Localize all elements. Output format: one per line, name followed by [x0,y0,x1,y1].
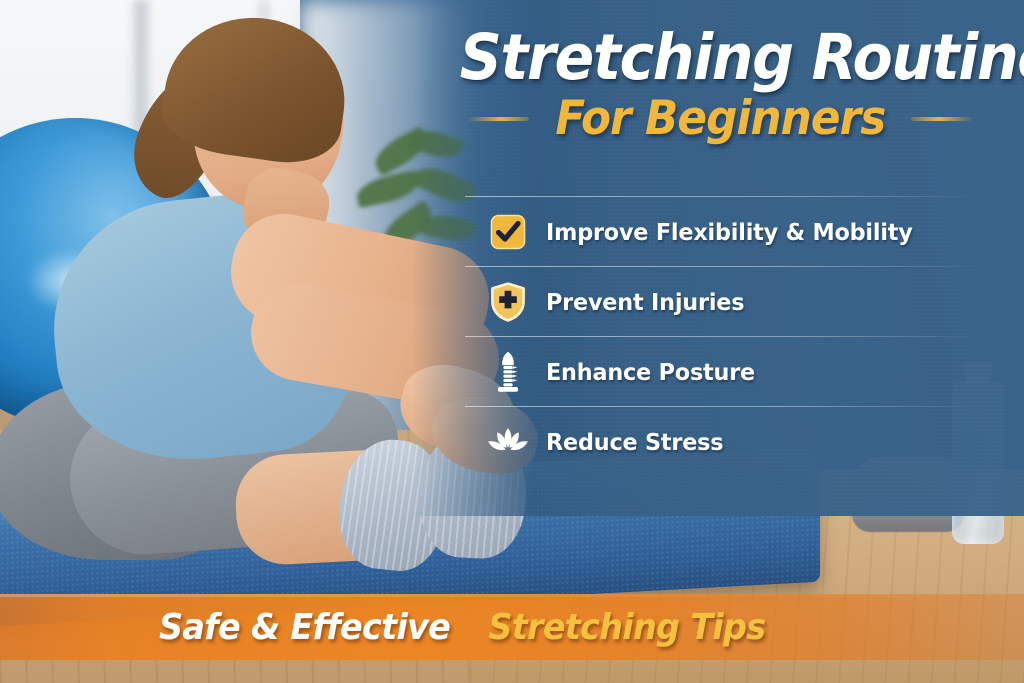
poster-canvas: Stretching Routine For Beginners Improve… [0,0,1024,683]
list-item-label: Improve Flexibility & Mobility [546,218,913,246]
dash-right-icon [911,117,973,121]
banner-text-accent: Stretching Tips [488,607,765,648]
list-item[interactable]: Reduce Stress [465,407,985,476]
benefits-list: Improve Flexibility & Mobility Prevent I… [465,196,985,476]
bottom-banner: Safe & Effective Stretching Tips [0,594,1024,660]
shield-cross-icon [487,280,529,324]
checkbox-check-icon [487,210,529,254]
lotus-flower-icon [487,420,529,464]
page-subtitle: For Beginners [555,95,885,142]
title-block: Stretching Routine For Beginners [440,26,1000,142]
list-item[interactable]: Prevent Injuries [465,267,985,336]
banner-top-edge [0,594,1024,597]
banner-text-primary: Safe & Effective [159,607,450,648]
list-item[interactable]: Improve Flexibility & Mobility [465,197,985,266]
list-item-label: Prevent Injuries [546,288,744,316]
spine-icon [487,350,529,394]
list-item-label: Reduce Stress [546,428,723,456]
list-item[interactable]: Enhance Posture [465,337,985,406]
subtitle-row: For Beginners [440,95,1000,142]
dash-left-icon [467,117,529,121]
list-item-label: Enhance Posture [546,358,755,386]
page-title: Stretching Routine [460,26,981,90]
